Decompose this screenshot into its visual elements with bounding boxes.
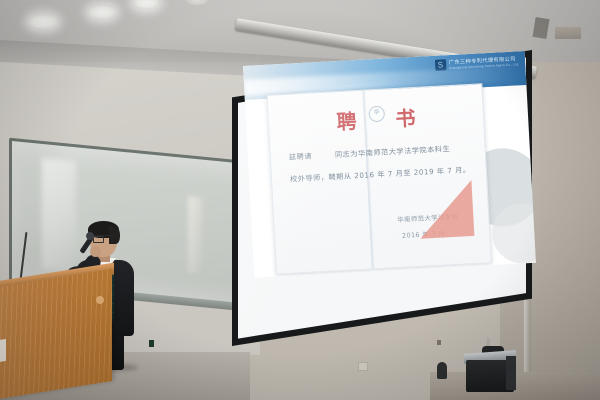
small-device <box>437 362 447 379</box>
company-logo: S 广东三种专利代理有限公司 Guangdong Sanzhong Patent… <box>435 55 520 70</box>
board-glare <box>188 196 202 273</box>
wood-grain <box>0 269 112 400</box>
wall-mark <box>437 340 441 345</box>
ceiling-light-icon <box>186 0 208 5</box>
decoration-pink-triangle <box>417 180 474 239</box>
amplifier-side <box>506 356 516 390</box>
ceiling-vent-icon <box>555 27 581 39</box>
projected-slide: S 广东三种专利代理有限公司 Guangdong Sanzhong Patent… <box>243 51 536 278</box>
presenter-hand <box>90 246 101 257</box>
logo-mark-icon: S <box>435 59 447 71</box>
certificate-body-line: 兹聘请 同志为华南师范大学法学院本科生 <box>289 143 473 163</box>
ceiling-light-icon <box>133 0 159 9</box>
lecture-hall-photo: S 广东三种专利代理有限公司 Guangdong Sanzhong Patent… <box>0 0 600 400</box>
podium <box>0 269 112 400</box>
wall-outlet-icon <box>358 362 368 371</box>
podium-corner-knob <box>96 296 104 304</box>
certificate-card: 聘 书 华 兹聘请 同志为华南师范大学法学院本科生 校外导师，聘期从 2016 … <box>267 83 492 274</box>
ceiling-light-icon <box>28 14 58 29</box>
wall-fixture <box>149 340 154 347</box>
podium-paper <box>0 339 6 363</box>
ceiling-light-icon <box>88 5 116 19</box>
